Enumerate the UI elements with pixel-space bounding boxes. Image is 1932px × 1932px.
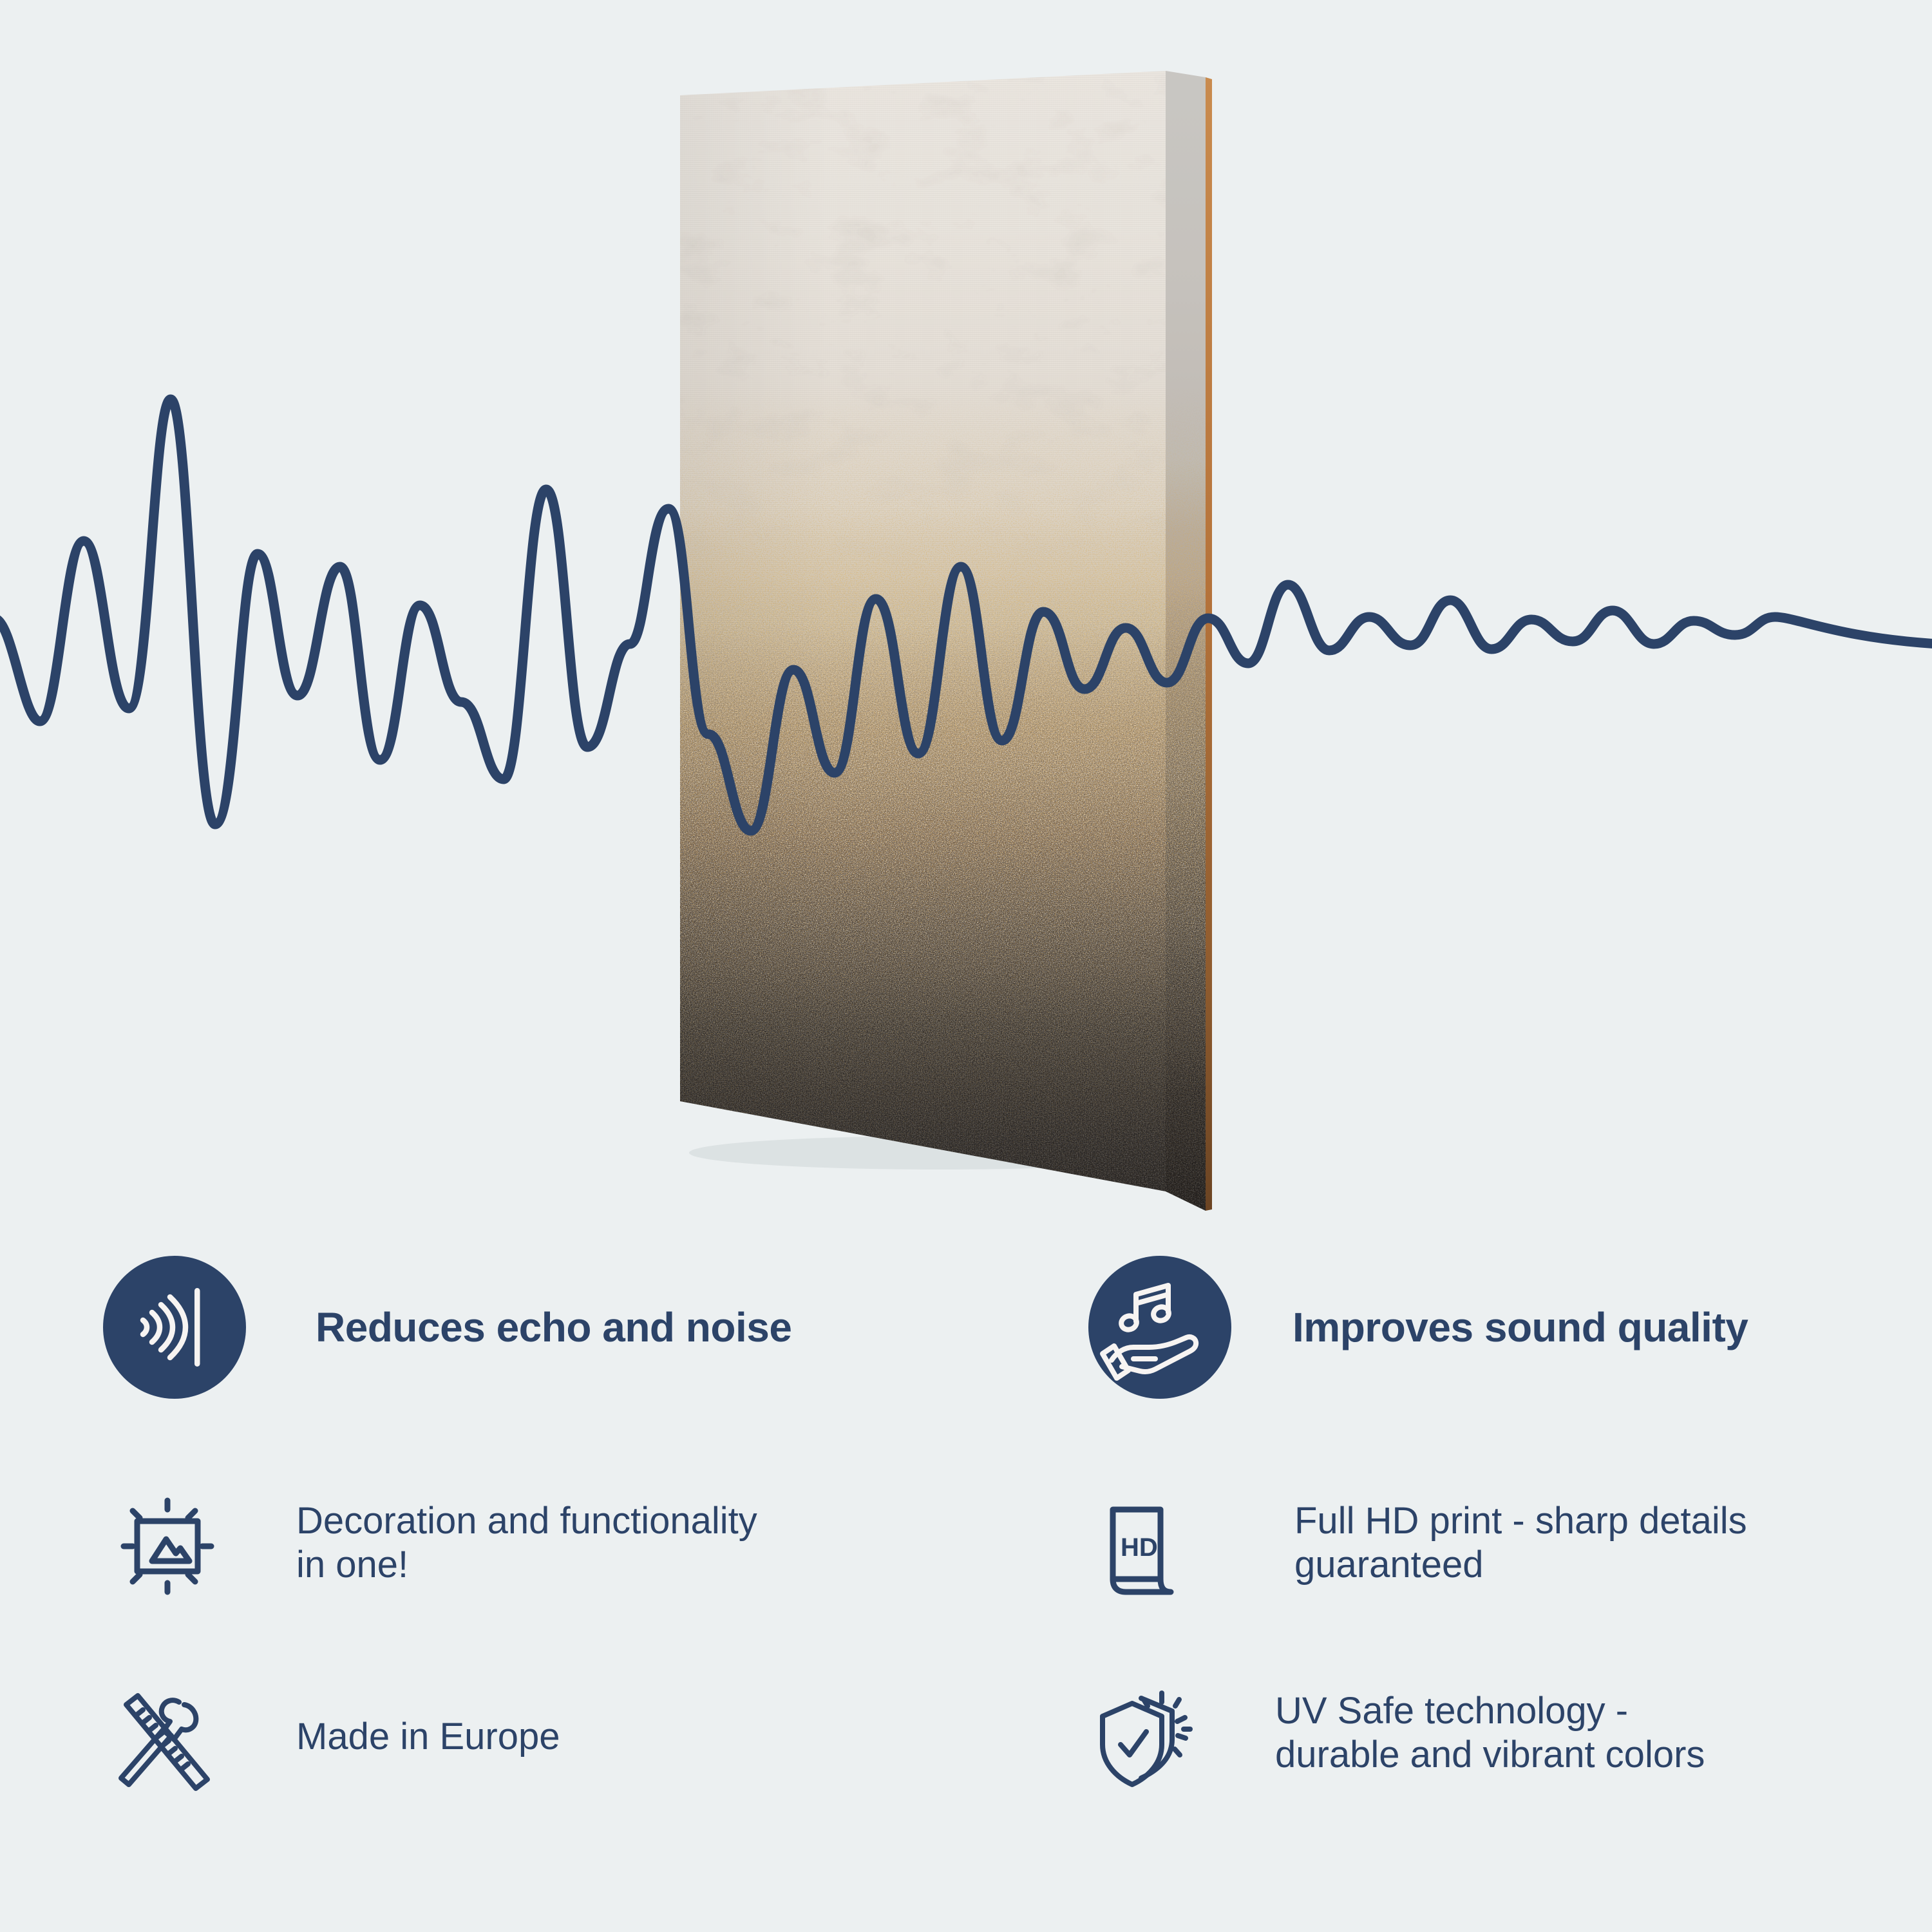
feature-hd-print: HD Full HD print - sharp details guarant… [1095, 1494, 1747, 1610]
badge-improves-sound: Improves sound quality [1088, 1256, 1748, 1399]
feature-uv-safe: UV Safe technology - durable and vibrant… [1095, 1684, 1705, 1800]
canvas-artwork-product-image [670, 58, 1314, 1236]
feature-line-1: Decoration and functionality [296, 1500, 757, 1542]
uv-shield-sun-icon [1095, 1684, 1211, 1800]
feature-line-1: Full HD print - sharp details [1294, 1500, 1747, 1542]
feature-line-2: in one! [296, 1543, 757, 1587]
hammer-ruler-icon [109, 1684, 225, 1800]
feature-text: Made in Europe [296, 1684, 560, 1759]
feature-text: UV Safe technology - durable and vibrant… [1275, 1684, 1705, 1777]
sound-wave-wall-icon [103, 1256, 246, 1399]
feature-line-1: Made in Europe [296, 1716, 560, 1757]
feature-line-2: durable and vibrant colors [1275, 1733, 1705, 1777]
feature-text: Full HD print - sharp details guaranteed [1294, 1494, 1747, 1587]
product-infographic: Reduces echo and noise Improves so [0, 0, 1932, 1932]
hd-print-icon: HD [1095, 1494, 1211, 1610]
framed-picture-shine-icon [109, 1494, 225, 1610]
feature-line-1: UV Safe technology - [1275, 1690, 1628, 1732]
artwork-wood-edge [1206, 77, 1212, 1211]
feature-line-2: guaranteed [1294, 1543, 1747, 1587]
hd-badge-text: HD [1121, 1533, 1158, 1562]
badge-reduces-echo: Reduces echo and noise [103, 1256, 791, 1399]
feature-made-in-europe: Made in Europe [109, 1684, 560, 1800]
badge-label: Reduces echo and noise [316, 1303, 791, 1351]
feature-text: Decoration and functionality in one! [296, 1494, 757, 1587]
music-note-hand-icon [1088, 1256, 1231, 1399]
badge-label: Improves sound quality [1293, 1303, 1748, 1351]
feature-decoration-functionality: Decoration and functionality in one! [109, 1494, 757, 1610]
artwork-front-face [670, 58, 1314, 1236]
